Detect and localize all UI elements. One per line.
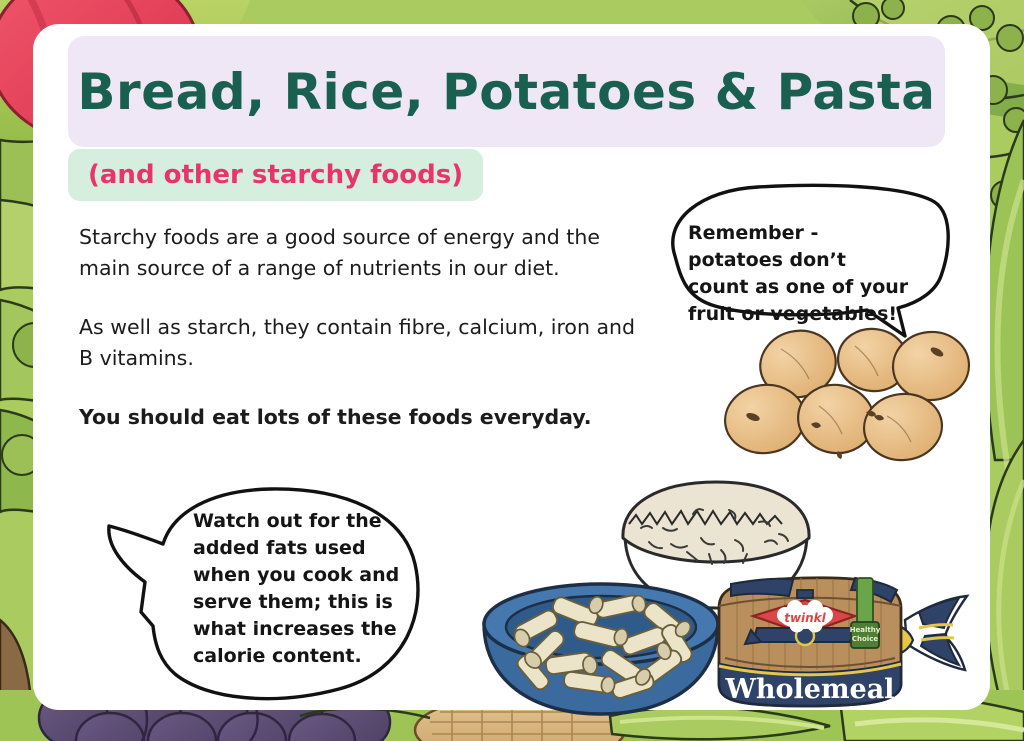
potatoes-illustration [723, 324, 985, 484]
bread-loaf-illustration: twinkl Healthy Choice Wholemeal [705, 562, 990, 714]
body-copy: Starchy foods are a good source of energ… [79, 222, 639, 433]
speech-bubble-potato-text: Remember - potatoes don’t count as one o… [688, 220, 913, 328]
speech-bubble-potato: Remember - potatoes don’t count as one o… [653, 184, 953, 334]
healthy-tag-line-1: Healthy [850, 626, 881, 634]
speech-bubble-fats-text: Watch out for the added fats used when y… [193, 508, 408, 670]
paragraph-2: As well as starch, they contain fibre, c… [79, 312, 639, 374]
paragraph-3: You should eat lots of these foods every… [79, 402, 639, 433]
twinkl-brand-badge: twinkl [784, 611, 826, 625]
speech-bubble-fats: Watch out for the added fats used when y… [103, 486, 433, 701]
paragraph-3-emphasis: lots [257, 405, 300, 429]
paragraph-3-before: You should eat [79, 405, 257, 429]
content-card: Bread, Rice, Potatoes & Pasta (and other… [33, 24, 990, 710]
subtitle-label: (and other starchy foods) [88, 160, 463, 190]
paragraph-3-after: of these foods everyday. [300, 405, 592, 429]
title-band: Bread, Rice, Potatoes & Pasta [68, 36, 945, 147]
paragraph-1: Starchy foods are a good source of energ… [79, 222, 639, 284]
bread-label: Wholemeal [725, 674, 895, 705]
healthy-tag-line-2: Choice [852, 635, 878, 643]
subtitle-pill: (and other starchy foods) [68, 149, 483, 201]
page-title: Bread, Rice, Potatoes & Pasta [77, 63, 935, 121]
pasta-bowl-illustration [476, 572, 726, 717]
poster-root: Bread, Rice, Potatoes & Pasta (and other… [0, 0, 1024, 741]
